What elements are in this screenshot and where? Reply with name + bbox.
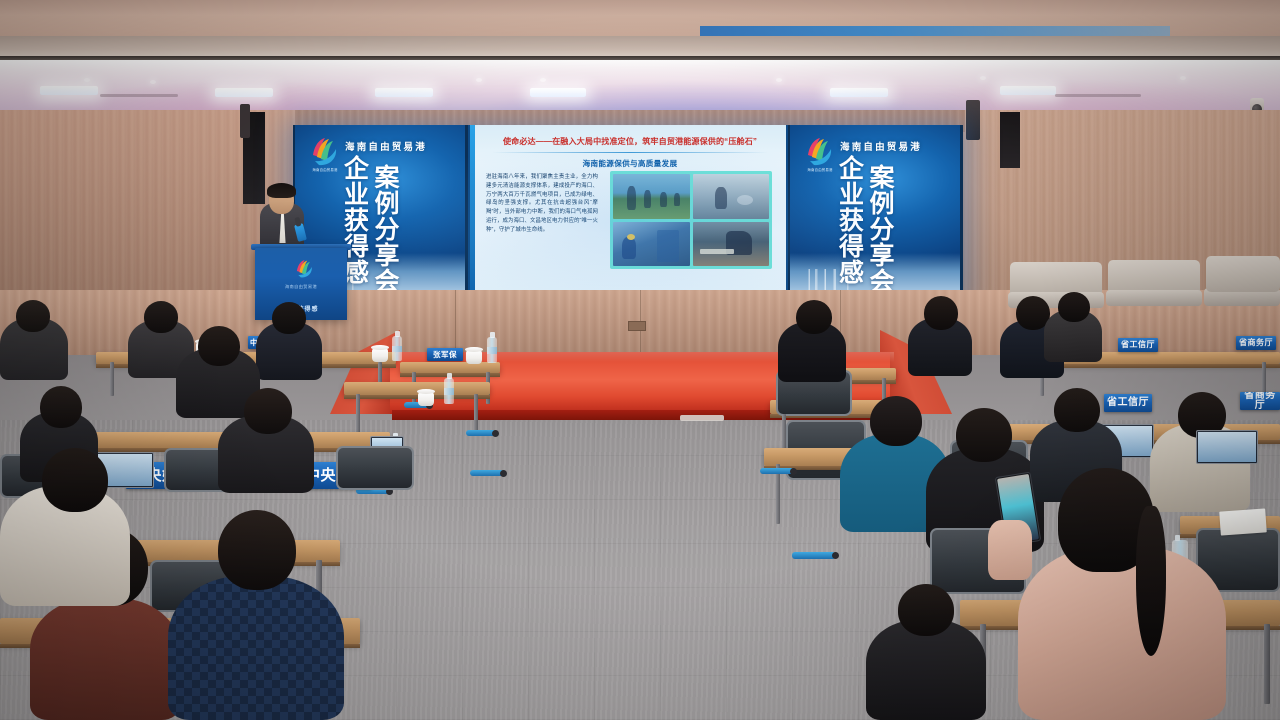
ceiling-soffit xyxy=(0,36,1280,58)
slide-subtitle: 海南能源保供与高质量发展 xyxy=(478,158,782,169)
logo-caption: 海南自由贸易港 xyxy=(305,167,345,172)
slide-divider xyxy=(492,152,768,153)
ceiling-spot-light xyxy=(476,78,482,82)
slide-photo-2 xyxy=(693,174,770,219)
ceiling-panel-light xyxy=(1000,86,1056,95)
slide-photo-grid xyxy=(610,171,772,269)
lounge-sofa-seat xyxy=(1106,290,1202,306)
led-header-left: 海南自由贸易港 xyxy=(345,139,427,153)
hainan-free-trade-port-logo-icon xyxy=(307,135,341,169)
wall-speaker-right xyxy=(966,100,980,140)
name-plate: 省工信厅 xyxy=(1118,338,1158,352)
table-caster-base xyxy=(792,552,836,559)
tea-cup xyxy=(418,392,434,406)
table-caster-base xyxy=(470,470,504,476)
ceiling-air-vent xyxy=(1055,94,1141,97)
ceiling-spot-light xyxy=(1180,76,1186,80)
speaker-hair xyxy=(267,183,296,198)
table-leg xyxy=(474,394,478,434)
chair xyxy=(336,446,414,490)
table-leg xyxy=(1262,362,1266,396)
water-bottle xyxy=(444,378,454,404)
led-vtext-col1: 企业获得感 xyxy=(836,155,863,294)
water-bottle xyxy=(392,336,402,361)
ceiling-air-vent xyxy=(100,94,178,97)
ceiling-spot-light xyxy=(980,76,986,80)
table-leg xyxy=(110,362,114,396)
tea-cup xyxy=(466,350,482,364)
paper-document xyxy=(1219,508,1267,535)
led-vtext-col2: 案例分享会 xyxy=(372,155,399,294)
wall-speaker-left xyxy=(240,104,250,138)
table-leg xyxy=(356,394,360,434)
podium-logo-caption: 海南自由贸易港 xyxy=(255,284,347,290)
ceiling-panel-light xyxy=(40,86,98,95)
slide-photo-1 xyxy=(613,174,690,219)
ceiling-spot-light xyxy=(150,80,156,84)
logo-caption: 海南自由贸易港 xyxy=(800,167,840,172)
ceiling-panel-light xyxy=(530,88,586,97)
podium-logo-icon xyxy=(293,258,315,280)
ceiling-spot-light xyxy=(540,78,546,82)
name-plate: 省商务厅 xyxy=(1240,392,1280,410)
name-plate: 省商务厅 xyxy=(1236,336,1276,350)
led-panel-right: 海南自由贸易港 海南自由贸易港 企业获得感 案例分享会 xyxy=(790,125,960,305)
slide-body-text: 进驻海南八年来，我们聚焦主责主业，全力构建多元清洁能源支撑体系，建成投产的海口、… xyxy=(486,173,598,234)
tea-cup xyxy=(372,348,388,362)
hainan-free-trade-port-logo-icon xyxy=(802,135,836,169)
slide-title: 使命必达——在融入大局中找准定位，筑牢自贸港能源保供的“压舱石” xyxy=(478,138,782,147)
name-plate: 省工信厅 xyxy=(1104,394,1152,412)
ceiling-spot-light xyxy=(84,78,90,82)
led-panel-center-slide: 使命必达——在融入大局中找准定位，筑牢自贸港能源保供的“压舱石” 海南能源保供与… xyxy=(468,125,788,305)
name-plate-zhangjunbao: 张军保 xyxy=(427,348,463,361)
slide-photo-4 xyxy=(693,222,770,267)
led-vertical-text-right: 企业获得感 案例分享会 xyxy=(836,155,893,294)
table-caster-base xyxy=(760,468,794,474)
ceiling-spot-light xyxy=(776,78,782,82)
table-caster-base xyxy=(466,430,496,436)
led-video-wall: 海南自由贸易港 海南自由贸易港 企业获得感 案例分享会 使命必达——在融入大局中… xyxy=(293,125,963,305)
led-vertical-text-left: 企业获得感 案例分享会 xyxy=(341,155,398,294)
wall-power-socket xyxy=(628,321,646,331)
water-bottle xyxy=(487,337,497,363)
table-row-a2-left xyxy=(344,382,490,395)
doorway-right xyxy=(1000,112,1020,168)
led-header-right: 海南自由贸易港 xyxy=(840,139,922,153)
conference-room-scene: 海南自由贸易港 海南自由贸易港 企业获得感 案例分享会 使命必达——在融入大局中… xyxy=(0,0,1280,720)
slide-photo-3 xyxy=(613,222,690,267)
table-leg xyxy=(1264,624,1270,704)
laptop xyxy=(1196,430,1258,464)
lounge-sofa-back xyxy=(1206,256,1280,292)
ceiling-panel-light xyxy=(375,88,433,97)
ceiling-panel-light xyxy=(215,88,273,97)
ceiling-panel-light xyxy=(830,88,888,97)
floor-cable-cover xyxy=(680,415,724,421)
led-vtext-col2: 案例分享会 xyxy=(867,155,894,294)
